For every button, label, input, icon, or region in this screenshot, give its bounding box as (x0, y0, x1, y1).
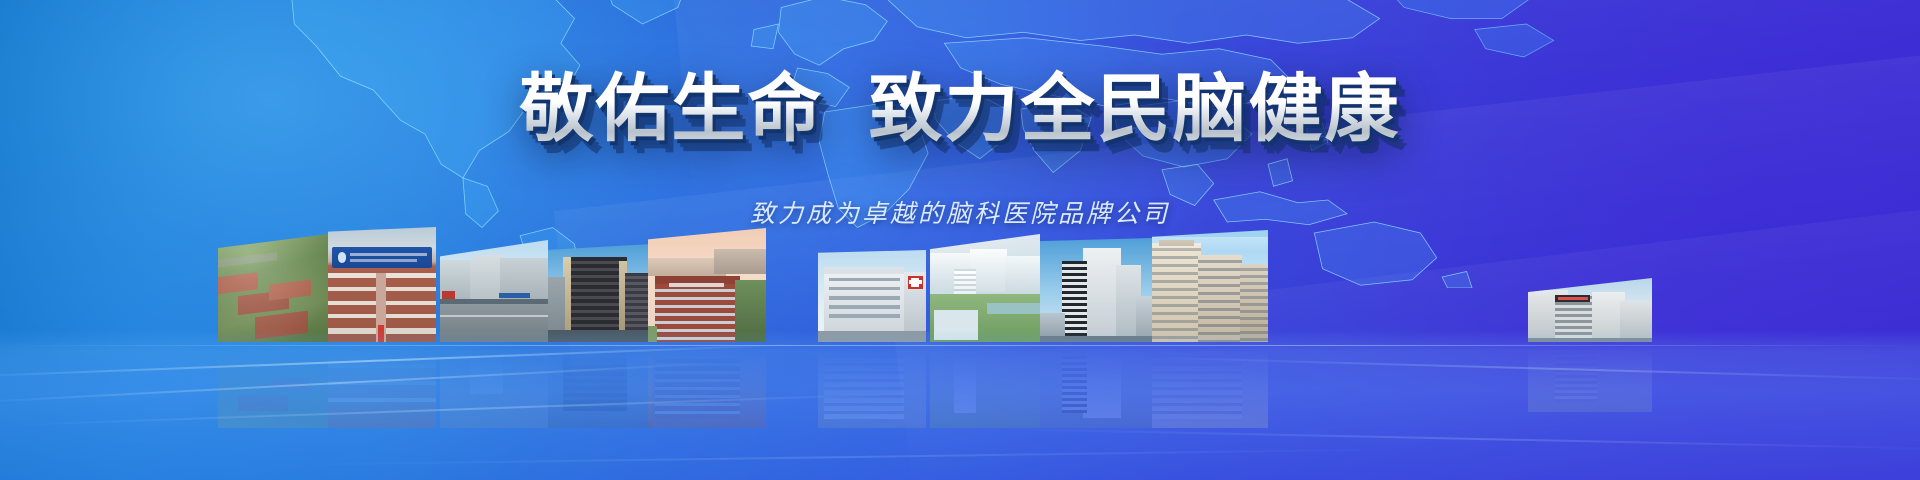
reflection-4 (548, 342, 652, 428)
water-streak-1 (0, 343, 800, 378)
reflection-10 (1528, 342, 1652, 412)
reflection-1 (218, 342, 328, 428)
reflection-7 (930, 342, 1040, 428)
water-streak-4 (1150, 357, 1920, 382)
reflection-6 (818, 342, 926, 428)
reflection-5 (648, 342, 766, 428)
reflection-8 (1040, 342, 1152, 428)
reflection-3 (440, 342, 548, 428)
water-streak-2 (0, 362, 720, 404)
photo-striped-tower[interactable] (1040, 238, 1152, 342)
page-subtitle: 致力成为卓越的脑科医院品牌公司 (0, 196, 1920, 232)
water-streak-5 (1000, 428, 1920, 450)
water-streak-3 (20, 392, 920, 425)
hero-banner: 敬佑生命 致力全民脑健康 致力成为卓越的脑科医院品牌公司 (0, 0, 1920, 480)
reflection-9 (1152, 342, 1268, 428)
photo-cixi-blue-cross[interactable] (328, 227, 436, 342)
photo-hotel-tower-signage[interactable] (1528, 278, 1652, 342)
reflection-2 (328, 342, 436, 428)
water-reflection-surface (0, 330, 1920, 480)
page-title: 敬佑生命 致力全民脑健康 (0, 66, 1920, 152)
water-streak-6 (300, 448, 1400, 465)
photo-aerial-campus[interactable] (218, 234, 328, 342)
photo-campus-rendering[interactable] (930, 234, 1040, 342)
horizon-line (0, 345, 1920, 346)
photo-white-hospital-red-cross[interactable] (818, 250, 926, 342)
photo-hospital-street[interactable] (440, 240, 548, 342)
photo-beige-apartment[interactable] (1152, 230, 1268, 342)
photo-dark-glass-tower[interactable] (548, 244, 652, 342)
photo-red-brick-hillside[interactable] (648, 228, 766, 342)
